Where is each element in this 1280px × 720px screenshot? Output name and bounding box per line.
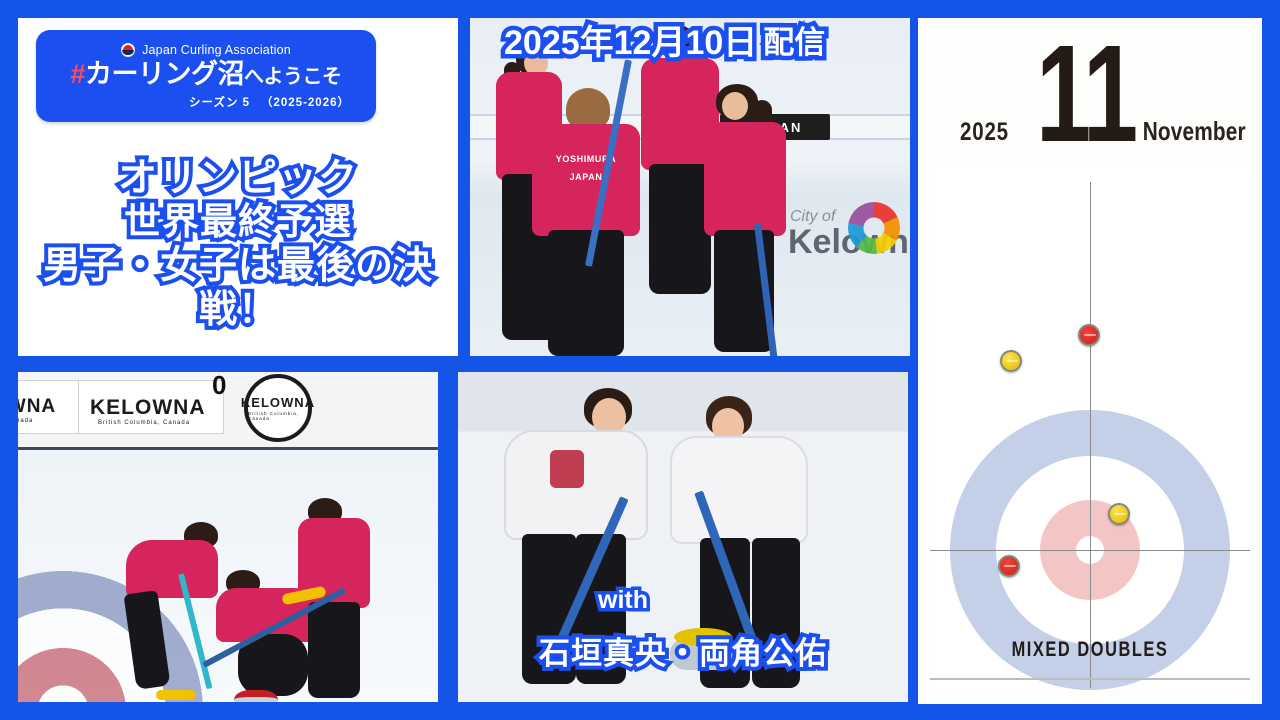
broom-head-left — [156, 690, 196, 700]
broadcast-date-label: 配信 — [763, 27, 825, 60]
program-hash: # — [70, 59, 85, 89]
program-title-main: カーリング沼 — [85, 59, 244, 89]
centre-line — [1090, 182, 1091, 688]
board-left-text: OWNA — [18, 396, 56, 418]
season-label: シーズン 5 （2025-2026） — [189, 94, 350, 110]
board-main-subtext: British Columbia, Canada — [98, 420, 190, 426]
player-head — [722, 92, 748, 120]
player-figure-sweeper-right — [294, 498, 404, 648]
headline-line-1: オリンピック — [18, 156, 458, 201]
calendar-month-name: November — [1143, 116, 1246, 147]
jersey-country-label: JAPAN — [532, 172, 640, 182]
player-figure-4 — [702, 84, 794, 352]
board-left-subtext: bia, Canada — [18, 418, 33, 424]
broadcast-date-text: 2025年12月10日 — [504, 26, 757, 60]
broadcast-thumbnail: Japan Curling Association #カーリング沼へようこそ シ… — [0, 0, 1280, 720]
circle-logo-text: KELOWNA — [241, 395, 315, 410]
program-title: #カーリング沼へようこそ — [70, 60, 341, 88]
kelowna-circle-logo: KELOWNA British Columbia, Canada — [244, 374, 312, 442]
jca-mountain-logo-icon — [121, 43, 135, 57]
title-card-panel: Japan Curling Association #カーリング沼へようこそ シ… — [18, 18, 458, 356]
circle-logo-subtext: British Columbia, Canada — [248, 411, 308, 421]
headline-line-2: 世界最終予選 — [18, 201, 458, 244]
kelowna-ring-icon — [848, 202, 900, 254]
photo-mixed-doubles: with 石垣真央・両角公佑 — [458, 372, 908, 702]
photo-mens-team: OWNA bia, Canada KELOWNA British Columbi… — [18, 372, 438, 702]
hog-line — [930, 678, 1250, 680]
board-main-text: KELOWNA — [90, 396, 206, 420]
player-jersey: YOSHIMURA JAPAN — [532, 124, 640, 236]
with-label: with — [598, 586, 648, 615]
stone-red-centre-guard — [1078, 324, 1100, 346]
calendar-header: 2025 11 November — [918, 28, 1262, 158]
jca-brand-badge: Japan Curling Association #カーリング沼へようこそ シ… — [36, 30, 376, 122]
curling-sheet-diagram: MIXED DOUBLES — [930, 168, 1250, 688]
player-jersey — [126, 540, 218, 598]
headline-block: オリンピック 世界最終予選 男子・女子は最後の決戦！ — [18, 156, 458, 332]
tee-line — [930, 550, 1250, 551]
stone-red-in-house — [998, 555, 1020, 577]
kelowna-city-logo: City of Kelowna — [786, 208, 906, 258]
calendar-diagram-panel: 2025 11 November MIXED DOUBLES — [918, 18, 1262, 704]
scoreboard-digit: 0 — [212, 372, 227, 401]
rink-boards: OWNA bia, Canada KELOWNA British Columbi… — [18, 372, 438, 450]
player-legs — [548, 230, 624, 356]
jca-brand-row: Japan Curling Association — [121, 42, 291, 57]
player-jersey — [704, 122, 786, 236]
player-jersey-white — [670, 436, 808, 544]
jersey-red-accent — [550, 450, 584, 488]
player-figure-yoshimura: YOSHIMURA JAPAN — [532, 88, 642, 356]
photo-womens-team: CLEAN City of Kelowna YOSHIMURA JAPAN — [470, 18, 910, 356]
stone-yellow-in-house — [1108, 503, 1130, 525]
broadcast-date-banner: 2025年12月10日 配信 — [504, 26, 825, 60]
headline-line-3: 男子・女子は最後の決戦！ — [18, 244, 458, 332]
stone-yellow-guard — [1000, 350, 1022, 372]
curling-stone-in-play — [234, 690, 278, 702]
jersey-name-label: YOSHIMURA — [532, 154, 640, 164]
discipline-label: MIXED DOUBLES — [965, 638, 1215, 662]
program-title-suffix: へようこそ — [244, 66, 342, 88]
player-legs — [308, 602, 360, 698]
calendar-year: 2025 — [960, 118, 1009, 147]
calendar-month-number: 11 — [1036, 38, 1135, 151]
mixed-doubles-player-names: 石垣真央・両角公佑 — [458, 628, 908, 673]
association-name: Japan Curling Association — [142, 43, 291, 57]
